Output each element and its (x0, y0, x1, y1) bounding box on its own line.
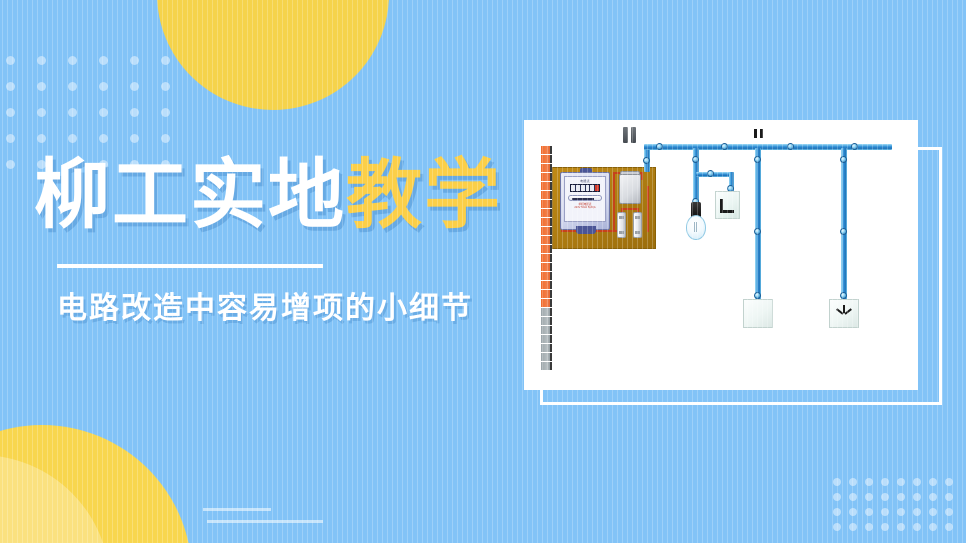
digit-cell (586, 185, 590, 191)
dot (68, 82, 77, 91)
dot (897, 508, 905, 516)
dot (6, 108, 15, 117)
accent-line-lower (207, 520, 323, 523)
title-divider (57, 264, 323, 268)
dot (897, 523, 905, 531)
dot (865, 508, 873, 516)
dot (6, 160, 15, 169)
dot (37, 82, 46, 91)
conduit-coupler (643, 157, 650, 164)
dot (833, 508, 841, 516)
dot (929, 493, 937, 501)
brick (541, 209, 552, 218)
breaker-lever (631, 127, 636, 143)
brick (541, 218, 552, 227)
dot (130, 82, 139, 91)
dot (881, 493, 889, 501)
page-subtitle: 电路改造中容易增项的小细节 (57, 283, 473, 327)
dot (833, 478, 841, 486)
dot (897, 478, 905, 486)
board-wire (613, 172, 615, 232)
conduit-coupler (787, 143, 794, 150)
outlet-two-pin (743, 299, 773, 328)
brick (541, 299, 552, 308)
meter-dial (568, 195, 602, 201)
dot (881, 508, 889, 516)
dot (37, 134, 46, 143)
outlet-slot (760, 129, 763, 138)
circuit-diagram: 电能表 单相电能表 220V 50Hz 5(20)A (524, 120, 918, 390)
dot (881, 478, 889, 486)
digit-cell-decimal (595, 185, 599, 191)
brick (541, 182, 552, 191)
conduit-coupler (656, 143, 663, 150)
brick (541, 164, 552, 173)
conduit-coupler (754, 292, 761, 299)
dot (130, 108, 139, 117)
meter-model-text: 220V 50Hz 5(20)A (567, 206, 603, 209)
dot (881, 523, 889, 531)
dot (68, 134, 77, 143)
meter-face: 电能表 单相电能表 220V 50Hz 5(20)A (564, 176, 606, 222)
dot (99, 56, 108, 65)
accent-line-upper (203, 508, 271, 511)
brick (541, 344, 552, 353)
dot-grid-bottom-right (833, 478, 961, 538)
digit-cell (590, 185, 594, 191)
conduit-coupler (851, 143, 858, 150)
digit-cell (571, 185, 575, 191)
dot (161, 56, 170, 65)
conduit-coupler (840, 228, 847, 235)
conduit-outlet1-drop (755, 148, 761, 300)
dot (6, 82, 15, 91)
dot (6, 56, 15, 65)
dot (929, 478, 937, 486)
title-accent-text: 教学 (346, 153, 502, 238)
brick (541, 353, 552, 362)
dot (68, 108, 77, 117)
brick (541, 155, 552, 164)
dot (945, 478, 953, 486)
bulb-filament (694, 222, 697, 232)
switch-lever-icon (720, 199, 734, 213)
brick (541, 173, 552, 182)
dot (833, 493, 841, 501)
fuse-holder-left (617, 212, 626, 238)
dot (945, 493, 953, 501)
dot (865, 478, 873, 486)
brick (541, 245, 552, 254)
brick (541, 272, 552, 281)
brick (541, 308, 552, 317)
dot (849, 478, 857, 486)
brick (541, 263, 552, 272)
board-wire (621, 208, 639, 210)
dot (897, 493, 905, 501)
dot (37, 108, 46, 117)
brick (541, 335, 552, 344)
brick (541, 254, 552, 263)
dot (913, 523, 921, 531)
dot (913, 493, 921, 501)
dot (913, 478, 921, 486)
dot (849, 508, 857, 516)
board-wire (641, 172, 643, 180)
brick (541, 227, 552, 236)
brick (541, 290, 552, 299)
brick (541, 236, 552, 245)
dot (99, 108, 108, 117)
brick (541, 326, 552, 335)
meter-terminal-cover (576, 226, 596, 234)
conduit-coupler (840, 292, 847, 299)
conduit-coupler (721, 143, 728, 150)
brick (541, 281, 552, 290)
board-wire (647, 186, 649, 232)
dot (945, 508, 953, 516)
dot (68, 56, 77, 65)
illustration-panel: 电能表 单相电能表 220V 50Hz 5(20)A (524, 120, 918, 390)
brick (541, 362, 552, 371)
poster-canvas: 柳工实地教学 电路改造中容易增项的小细节 (0, 0, 966, 543)
brick (541, 191, 552, 200)
dot (945, 523, 953, 531)
brick (541, 146, 552, 155)
fuse-holder-right (633, 212, 642, 238)
dot (37, 56, 46, 65)
dot (849, 523, 857, 531)
dot (161, 82, 170, 91)
meter-digit-display (570, 184, 600, 192)
dot (865, 523, 873, 531)
conduit-coupler (754, 156, 761, 163)
digit-cell (576, 185, 580, 191)
breaker-lever (623, 127, 628, 143)
dot (865, 493, 873, 501)
title-main-text: 柳工实地 (34, 153, 346, 238)
brick (541, 200, 552, 209)
meter-brand-text: 电能表 (567, 180, 603, 183)
brick-wall (541, 146, 552, 377)
digit-cell (581, 185, 585, 191)
conduit-coupler (754, 228, 761, 235)
conduit-outlet2-drop (841, 148, 847, 300)
dot (161, 108, 170, 117)
dot (161, 134, 170, 143)
conduit-coupler (707, 170, 714, 177)
circuit-breaker (619, 174, 641, 204)
dot (849, 493, 857, 501)
dot (99, 134, 108, 143)
dot (913, 508, 921, 516)
outlet-slot (754, 129, 757, 138)
conduit-coupler (692, 156, 699, 163)
title-line: 柳工实地教学 (34, 158, 502, 234)
brick (541, 317, 552, 326)
conduit-coupler (840, 156, 847, 163)
dot (929, 508, 937, 516)
page-title: 柳工实地教学 (34, 158, 502, 234)
dot (833, 523, 841, 531)
dot (99, 82, 108, 91)
dot (130, 134, 139, 143)
dot (929, 523, 937, 531)
dot (130, 56, 139, 65)
dot (6, 134, 15, 143)
